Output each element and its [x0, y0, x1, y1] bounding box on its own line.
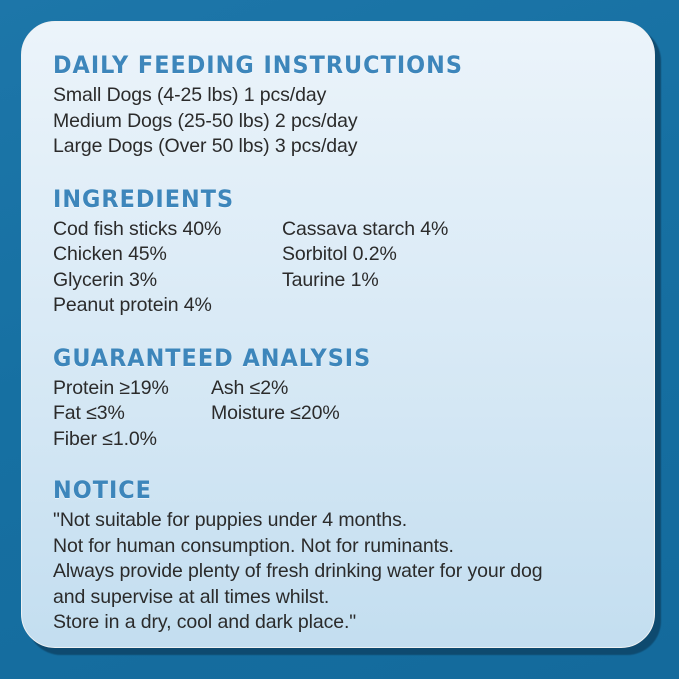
section-guaranteed-analysis: GUARANTEED ANALYSIS Protein ≥19% Fat ≤3%… [53, 343, 624, 453]
analysis-column-left: Protein ≥19% Fat ≤3% Fiber ≤1.0% [53, 376, 211, 453]
section-notice: NOTICE "Not suitable for puppies under 4… [53, 475, 624, 636]
notice-line-1: "Not suitable for puppies under 4 months… [53, 508, 624, 534]
analysis-fat: Fat ≤3% [53, 401, 211, 427]
ingredients-columns: Cod fish sticks 40% Chicken 45% Glycerin… [53, 217, 624, 319]
analysis-protein: Protein ≥19% [53, 376, 211, 402]
section-daily-feeding-instructions: DAILY FEEDING INSTRUCTIONS Small Dogs (4… [53, 50, 624, 160]
section-title-daily-feeding-instructions: DAILY FEEDING INSTRUCTIONS [53, 50, 584, 80]
section-ingredients: INGREDIENTS Cod fish sticks 40% Chicken … [53, 184, 624, 319]
notice-line-4: and supervise at all times whilst. [53, 585, 624, 611]
section-title-guaranteed-analysis: GUARANTEED ANALYSIS [53, 343, 584, 373]
ingredient-peanut-protein: Peanut protein 4% [53, 293, 282, 319]
feeding-line-small-dogs: Small Dogs (4-25 lbs) 1 pcs/day [53, 83, 624, 109]
notice-line-2: Not for human consumption. Not for rumin… [53, 534, 624, 560]
ingredient-cod-fish-sticks: Cod fish sticks 40% [53, 217, 282, 243]
section-title-ingredients: INGREDIENTS [53, 184, 584, 214]
ingredient-taurine: Taurine 1% [282, 268, 448, 294]
analysis-ash: Ash ≤2% [211, 376, 340, 402]
product-label-frame: DAILY FEEDING INSTRUCTIONS Small Dogs (4… [0, 0, 679, 679]
ingredients-column-right: Cassava starch 4% Sorbitol 0.2% Taurine … [282, 217, 448, 294]
notice-line-3: Always provide plenty of fresh drinking … [53, 559, 624, 585]
ingredient-chicken: Chicken 45% [53, 242, 282, 268]
analysis-fiber: Fiber ≤1.0% [53, 427, 211, 453]
product-label-card: DAILY FEEDING INSTRUCTIONS Small Dogs (4… [21, 21, 655, 648]
section-title-notice: NOTICE [53, 475, 584, 505]
ingredients-column-left: Cod fish sticks 40% Chicken 45% Glycerin… [53, 217, 282, 319]
analysis-columns: Protein ≥19% Fat ≤3% Fiber ≤1.0% Ash ≤2%… [53, 376, 624, 453]
notice-line-5: Store in a dry, cool and dark place." [53, 610, 624, 636]
analysis-column-right: Ash ≤2% Moisture ≤20% [211, 376, 340, 427]
analysis-moisture: Moisture ≤20% [211, 401, 340, 427]
ingredient-cassava-starch: Cassava starch 4% [282, 217, 448, 243]
feeding-line-medium-dogs: Medium Dogs (25-50 lbs) 2 pcs/day [53, 109, 624, 135]
ingredient-glycerin: Glycerin 3% [53, 268, 282, 294]
ingredient-sorbitol: Sorbitol 0.2% [282, 242, 448, 268]
feeding-line-large-dogs: Large Dogs (Over 50 lbs) 3 pcs/day [53, 134, 624, 160]
